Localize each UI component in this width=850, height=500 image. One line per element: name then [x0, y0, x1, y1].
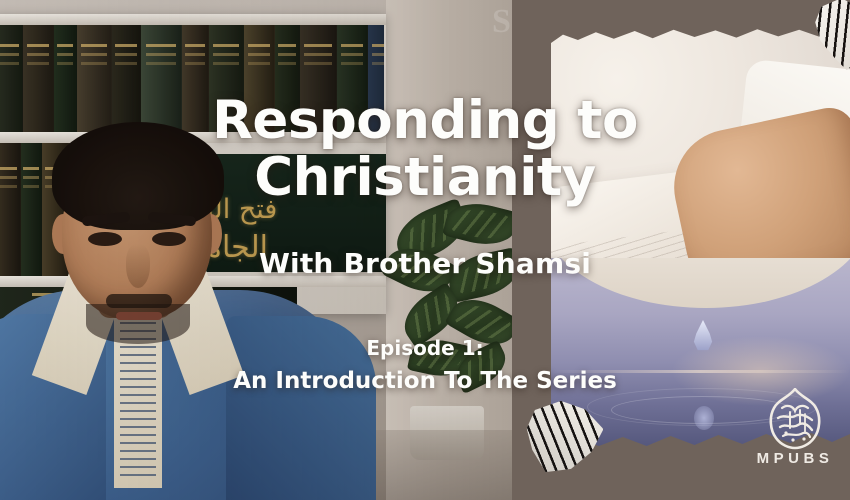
brand-wordmark: MPUBS — [752, 450, 838, 467]
presenter-hair — [52, 122, 224, 230]
shelf-board — [0, 14, 386, 25]
photo-droplet-reflection — [694, 406, 714, 430]
presenter — [0, 118, 320, 500]
video-thumbnail: مجموعة فتح الباري الجامع — [0, 0, 850, 500]
houseplant — [392, 210, 522, 460]
brand-logo: MPUBS — [752, 388, 838, 482]
book-row-top — [0, 25, 384, 132]
presenter-eye — [152, 232, 186, 246]
photo-horizon-line — [551, 370, 850, 373]
presenter-shoulder-right — [226, 316, 376, 500]
presenter-mouth — [116, 312, 162, 320]
presenter-nose — [126, 244, 150, 288]
photo-book-page-edge — [551, 258, 850, 308]
presenter-beard — [86, 304, 190, 344]
presenter-moustache — [106, 294, 172, 308]
presenter-eye — [88, 232, 122, 246]
arabic-calligraphy-dome-icon — [760, 388, 830, 450]
